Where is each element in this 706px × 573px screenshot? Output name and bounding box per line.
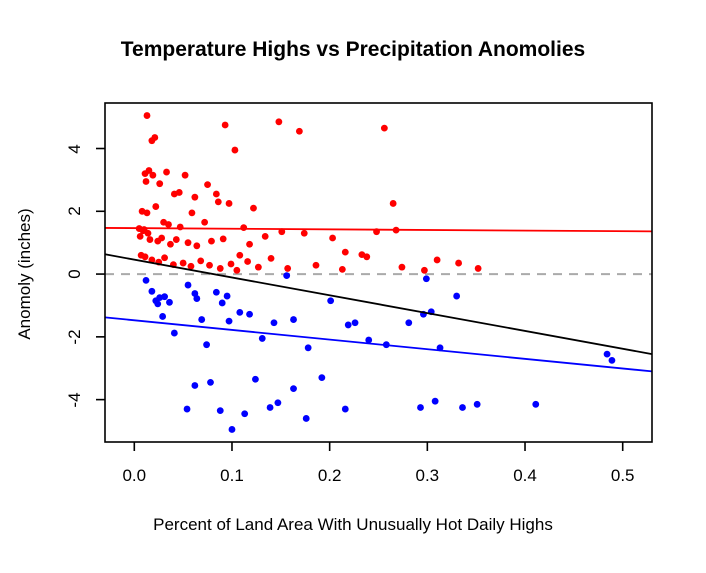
data-point [189,209,196,216]
data-point [453,293,460,300]
data-point [197,257,204,264]
data-point [399,264,406,271]
data-point [246,311,253,318]
data-point [191,382,198,389]
negative-trend-line [105,317,652,371]
data-point [474,401,481,408]
data-point [143,178,150,185]
data-point [275,118,282,125]
data-point [305,344,312,351]
data-point [604,351,611,358]
trend-lines-group [105,228,652,371]
x-tick-label: 0.0 [122,466,146,486]
data-point [188,263,195,270]
data-point [161,293,168,300]
data-point [405,319,412,326]
axes-group [96,103,652,451]
data-point [142,253,149,260]
data-point [163,169,170,176]
data-point [342,249,349,256]
data-point [144,112,151,119]
data-point [455,260,462,267]
data-point [432,398,439,405]
data-point [215,198,222,205]
data-point [143,277,150,284]
data-point [149,172,156,179]
data-point [421,267,428,274]
data-point [240,224,247,231]
data-point [339,266,346,273]
data-point [236,252,243,259]
data-point [161,254,168,261]
data-point [204,181,211,188]
data-point [226,200,233,207]
data-point [222,122,229,129]
x-tick-label: 0.3 [416,466,440,486]
data-point [177,224,184,231]
x-tick-label: 0.1 [220,466,244,486]
data-point [342,406,349,413]
y-tick-label: 0 [65,269,85,278]
y-tick-label: -4 [65,392,85,407]
data-point [165,221,172,228]
data-point [213,289,220,296]
data-point [185,239,192,246]
plot-canvas [0,0,706,573]
data-point [232,147,239,154]
data-point [434,257,441,264]
data-point [206,262,213,269]
data-point [390,200,397,207]
data-point [148,137,155,144]
data-point [352,319,359,326]
plot-border [105,103,652,442]
data-point [219,300,226,307]
data-point [184,406,191,413]
data-point [267,404,274,411]
data-point [233,267,240,274]
x-tick-label: 0.2 [318,466,342,486]
data-point [193,295,200,302]
data-point [180,260,187,267]
data-point [208,238,215,245]
data-point [145,230,152,237]
data-point [262,233,269,240]
data-point [228,261,235,268]
data-point [173,236,180,243]
data-point [191,194,198,201]
data-point [284,265,291,272]
data-point [423,275,430,282]
data-point [236,309,243,316]
data-point [381,125,388,132]
y-tick-label: 2 [65,207,85,216]
data-point [185,282,192,289]
data-point [252,376,259,383]
data-point [363,253,370,260]
data-point [137,233,144,240]
data-point [318,374,325,381]
overall-trend-line [105,254,652,354]
data-point [226,318,233,325]
data-point [201,219,208,226]
data-point [193,242,200,249]
scatter-plot-figure: Temperature Highs vs Precipitation Anomo… [0,0,706,573]
data-point [290,316,297,323]
data-point [246,241,253,248]
x-tick-label: 0.4 [513,466,537,486]
y-tick-label: 4 [65,144,85,153]
data-point [255,264,262,271]
data-point [142,170,149,177]
data-point [283,272,290,279]
data-point [198,316,205,323]
data-point [217,265,224,272]
data-point [259,335,266,342]
data-point [167,241,174,248]
data-point [171,330,178,337]
data-point [144,209,151,216]
data-point [417,404,424,411]
data-point [329,235,336,242]
data-point [217,407,224,414]
data-point [176,189,183,196]
data-point [475,265,482,272]
data-point [224,293,231,300]
data-point [148,288,155,295]
data-point [274,399,281,406]
data-point [327,297,334,304]
data-point [303,415,310,422]
data-point [159,313,166,320]
data-point [158,235,165,242]
data-point [229,426,236,433]
data-point [213,191,220,198]
data-point [244,258,251,265]
y-tick-label: -2 [65,329,85,344]
data-point [203,341,210,348]
data-point [313,262,320,269]
data-point [182,172,189,179]
data-point [250,205,257,212]
data-point [147,236,154,243]
x-tick-label: 0.5 [611,466,635,486]
data-point [609,357,616,364]
data-point [301,230,308,237]
data-point [290,385,297,392]
data-point [459,404,466,411]
data-point [207,379,214,386]
data-point [241,410,248,417]
data-point [532,401,539,408]
data-point [152,203,159,210]
data-point [296,128,303,135]
data-point [345,322,352,329]
data-point [271,319,278,326]
data-point [166,299,173,306]
data-point [268,255,275,262]
data-point [154,300,161,307]
data-point [156,180,163,187]
data-point [220,236,227,243]
